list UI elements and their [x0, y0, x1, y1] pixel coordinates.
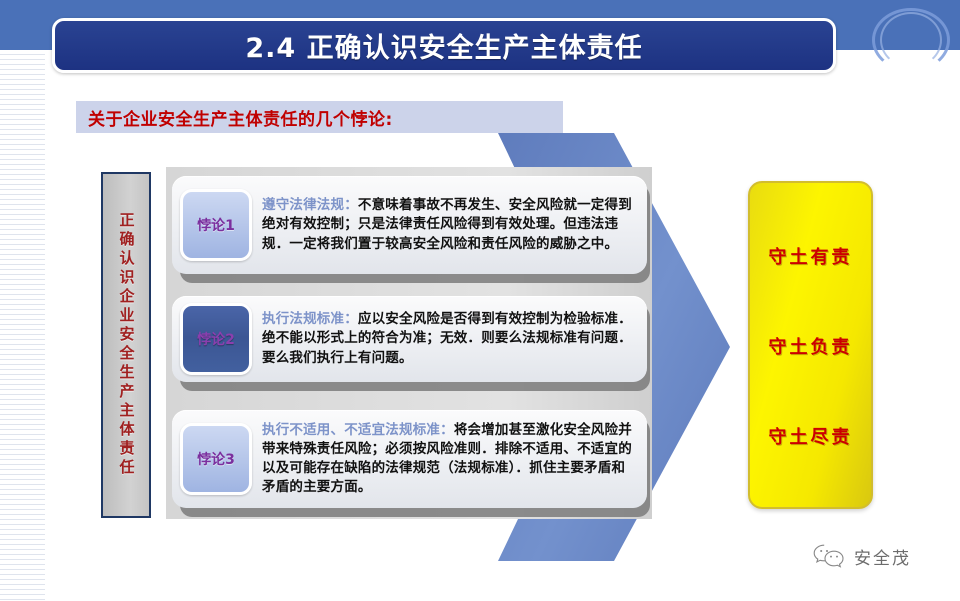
paradox-row-2: 悖论2 执行法规标准：应以安全风险是否得到有效控制为检验标准．绝不能以形式上的符…	[172, 296, 647, 382]
outcome-line-3: 守土尽责	[769, 423, 853, 449]
arc-decoration-inner-icon	[880, 12, 942, 68]
paradox-heading: 执行法规标准：	[262, 311, 358, 327]
paradox-heading: 执行不适用、不适宜法规标准：	[262, 422, 454, 438]
paradox-row-1: 悖论1 遵守法律法规：不意味着事故不再发生、安全风险就一定得到绝对有效控制；只是…	[172, 176, 647, 274]
paradox-body-3: 执行不适用、不适宜法规标准：将会增加甚至激化安全风险并带来特殊责任风险；必须按风…	[262, 421, 637, 498]
paradox-card[interactable]: 悖论3 执行不适用、不适宜法规标准：将会增加甚至激化安全风险并带来特殊责任风险；…	[172, 410, 647, 508]
paradox-body-2: 执行法规标准：应以安全风险是否得到有效控制为检验标准．绝不能以形式上的符合为准；…	[262, 310, 637, 367]
paradox-badge-label: 悖论3	[197, 449, 235, 469]
subtitle-bar: 关于企业安全生产主体责任的几个悖论:	[76, 101, 563, 133]
paradox-badge-1[interactable]: 悖论1	[180, 189, 252, 261]
watermark-label: 安全茂	[854, 544, 911, 569]
outcome-line-2: 守土负责	[769, 333, 853, 359]
wechat-icon	[812, 543, 846, 569]
slide-title-bar: 2.4 正确认识安全生产主体责任	[52, 18, 836, 73]
paradox-card[interactable]: 悖论2 执行法规标准：应以安全风险是否得到有效控制为检验标准．绝不能以形式上的符…	[172, 296, 647, 382]
vertical-title-box: 正确认识企业安全生产主体责任	[101, 172, 151, 518]
page-title: 2.4 正确认识安全生产主体责任	[245, 26, 642, 65]
paradox-heading: 遵守法律法规：	[262, 197, 358, 213]
slide-canvas: 2.4 正确认识安全生产主体责任 关于企业安全生产主体责任的几个悖论: 正确认识…	[0, 0, 960, 601]
paradox-badge-label: 悖论2	[197, 329, 235, 349]
paradox-badge-2[interactable]: 悖论2	[180, 303, 252, 375]
paradox-row-3: 悖论3 执行不适用、不适宜法规标准：将会增加甚至激化安全风险并带来特殊责任风险；…	[172, 410, 647, 508]
subtitle-text: 关于企业安全生产主体责任的几个悖论:	[76, 105, 393, 130]
paradox-card[interactable]: 悖论1 遵守法律法规：不意味着事故不再发生、安全风险就一定得到绝对有效控制；只是…	[172, 176, 647, 274]
left-stripe-decoration	[0, 50, 45, 601]
paradox-body-1: 遵守法律法规：不意味着事故不再发生、安全风险就一定得到绝对有效控制；只是法律责任…	[262, 196, 637, 253]
outcome-box: 守土有责 守土负责 守土尽责	[748, 181, 873, 509]
outcome-line-1: 守土有责	[769, 243, 853, 269]
paradox-badge-label: 悖论1	[197, 215, 235, 235]
paradox-badge-3[interactable]: 悖论3	[180, 423, 252, 495]
watermark: 安全茂	[812, 543, 911, 569]
vertical-title-text: 正确认识企业安全生产主体责任	[119, 212, 134, 478]
